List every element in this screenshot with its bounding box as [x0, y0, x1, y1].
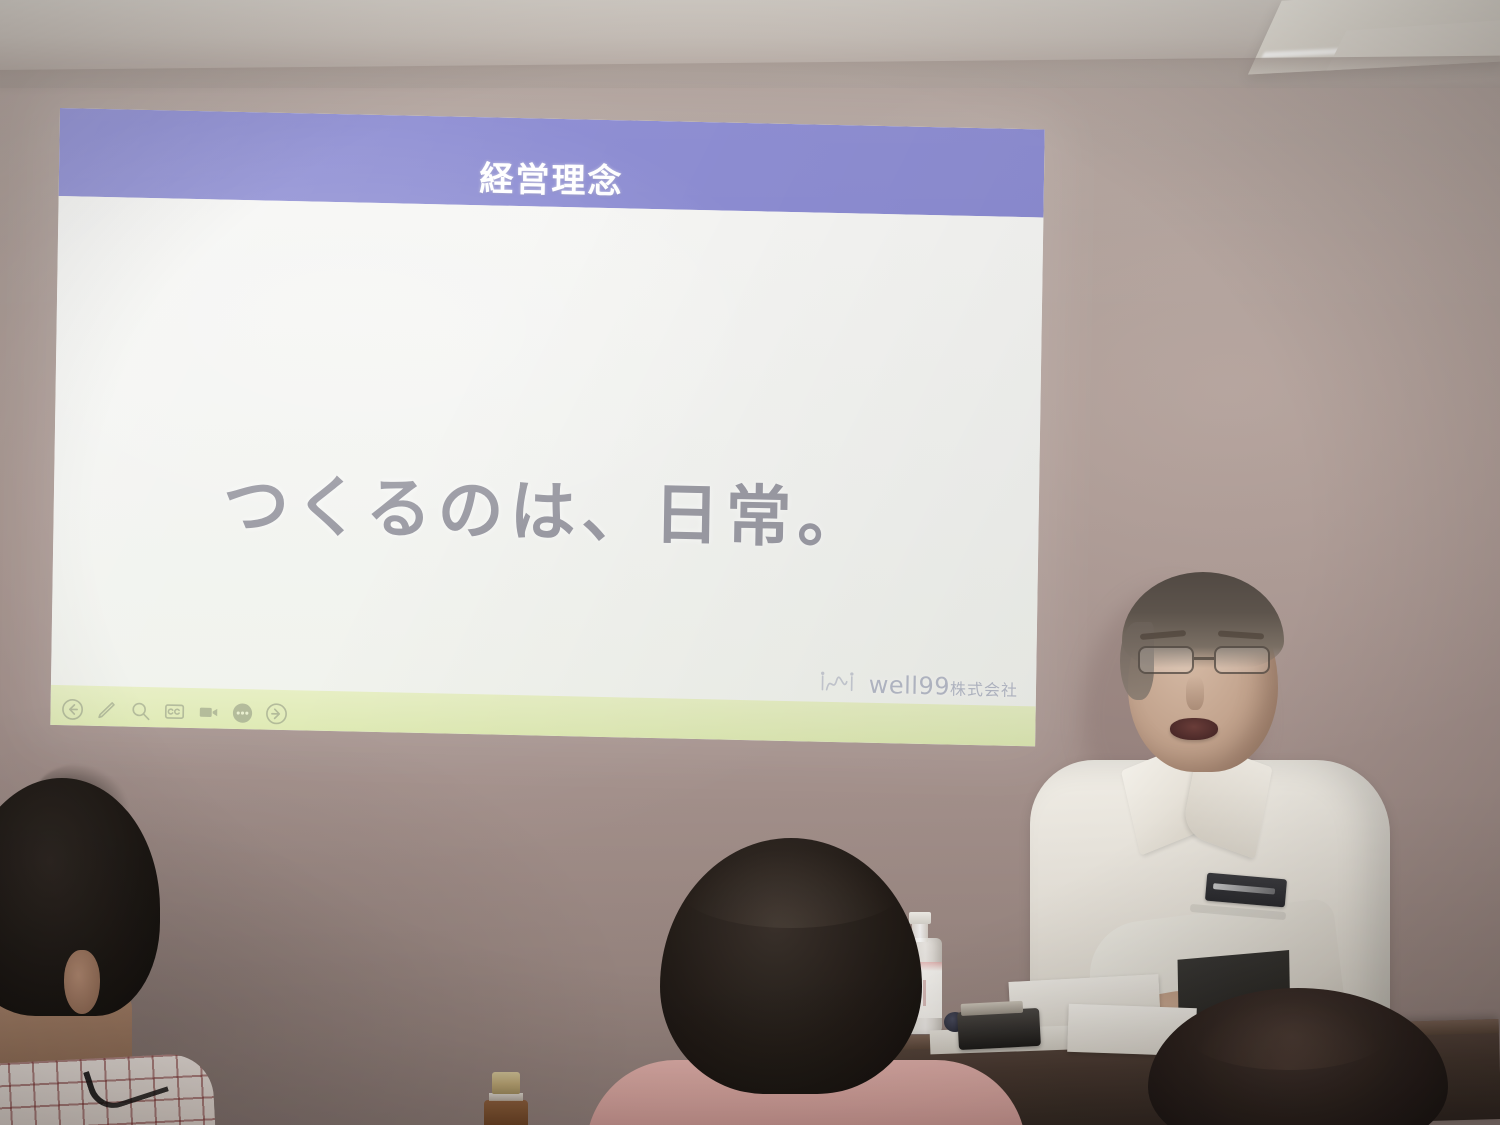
glasses-bridge: [1194, 657, 1214, 660]
audience-left-ear: [64, 950, 100, 1014]
presenter-nose: [1186, 676, 1204, 710]
wave-logo-icon: [820, 671, 860, 698]
projection-screen: 経営理念 つくるのは、日常。 well99株式会社: [50, 108, 1044, 746]
audience-right-front: [1148, 988, 1478, 1125]
player-toolbar[interactable]: [60, 697, 288, 726]
search-icon[interactable]: [128, 699, 152, 724]
slide-main-text: つくるのは、日常。: [53, 448, 1039, 565]
back-arrow-icon[interactable]: [60, 697, 84, 722]
more-options-icon[interactable]: [230, 701, 254, 726]
audience-right-hair: [1148, 988, 1448, 1125]
slide-brand-logo: well99株式会社: [820, 670, 1019, 702]
meeting-room-photo: 経営理念 つくるのは、日常。 well99株式会社: [0, 0, 1500, 1125]
presenter-glasses: [1136, 646, 1272, 676]
video-camera-icon[interactable]: [196, 700, 220, 725]
closed-caption-icon[interactable]: [162, 699, 186, 724]
pen-icon[interactable]: [94, 698, 118, 723]
brand-name: well99: [869, 671, 951, 701]
audience-left: [0, 778, 290, 1125]
glasses-lens-left: [1138, 646, 1194, 674]
slide-body: つくるのは、日常。: [51, 196, 1044, 717]
tea-bottle: [480, 1072, 532, 1125]
audience-center: [640, 838, 980, 1125]
tea-bottle-cap: [492, 1072, 520, 1094]
glasses-lens-right: [1214, 646, 1270, 674]
forward-arrow-icon[interactable]: [264, 702, 288, 727]
tea-bottle-ring: [489, 1093, 523, 1101]
brand-suffix: 株式会社: [950, 680, 1018, 700]
audience-center-hair: [660, 838, 922, 1094]
presentation-slide: 経営理念 つくるのは、日常。 well99株式会社: [50, 108, 1044, 746]
presenter-mouth: [1170, 718, 1218, 740]
brand-text: well99株式会社: [869, 671, 1019, 702]
tea-bottle-body: [484, 1100, 528, 1125]
